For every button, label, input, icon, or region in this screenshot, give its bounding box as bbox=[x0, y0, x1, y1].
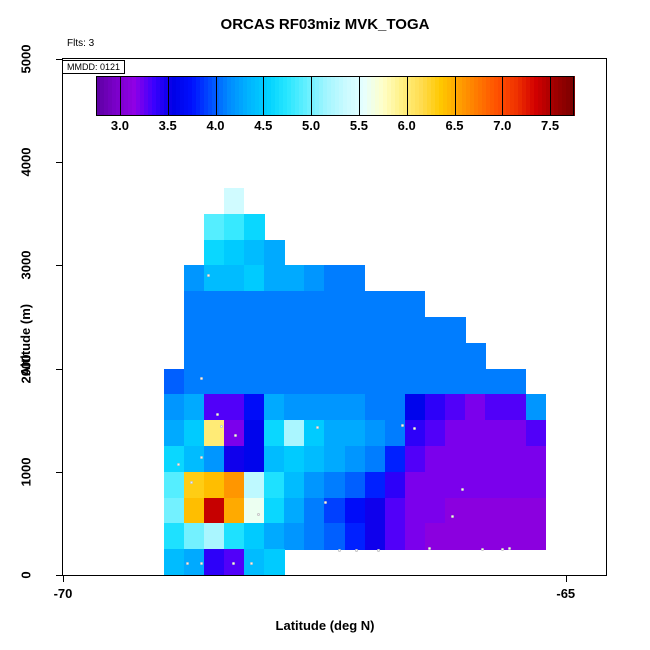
scatter-point bbox=[250, 562, 253, 565]
scatter-point bbox=[413, 427, 416, 430]
scatter-point bbox=[461, 488, 464, 491]
colorbar-tick-mark bbox=[216, 77, 217, 115]
scatter-point bbox=[501, 548, 504, 551]
y-tick-label: 5000 bbox=[19, 45, 34, 74]
chart-root: ORCAS RF03miz MVK_TOGA Flts: 3 MMDD: 012… bbox=[0, 0, 650, 650]
scatter-point bbox=[428, 547, 431, 550]
scatter-point bbox=[232, 562, 235, 565]
scatter-point bbox=[316, 426, 319, 429]
mmdd-badge: MMDD: 0121 bbox=[62, 60, 125, 74]
y-tick-label: 3000 bbox=[19, 251, 34, 280]
colorbar-tick-mark bbox=[168, 77, 169, 115]
colorbar-tick-label: 5.0 bbox=[302, 118, 320, 133]
colorbar-tick-label: 6.0 bbox=[398, 118, 416, 133]
colorbar-tick-label: 3.0 bbox=[111, 118, 129, 133]
scatter-point bbox=[257, 513, 260, 516]
colorbar-tick-label: 4.0 bbox=[206, 118, 224, 133]
scatter-point bbox=[377, 549, 380, 552]
colorbar-tick-mark bbox=[407, 77, 408, 115]
colorbar-tick-mark bbox=[502, 77, 503, 115]
colorbar-tick-mark bbox=[120, 77, 121, 115]
colorbar-tick-label: 5.5 bbox=[350, 118, 368, 133]
y-tick-mark bbox=[56, 575, 63, 576]
scatter-point bbox=[200, 562, 203, 565]
colorbar-swatch bbox=[570, 76, 575, 116]
colorbar-tick-label: 4.5 bbox=[254, 118, 272, 133]
colorbar-tick-mark bbox=[550, 77, 551, 115]
scatter-point bbox=[220, 425, 223, 428]
x-tick-label: -70 bbox=[54, 586, 73, 601]
colorbar-tick-mark bbox=[263, 77, 264, 115]
y-tick-mark bbox=[56, 162, 63, 163]
scatter-point bbox=[401, 424, 404, 427]
scatter-point bbox=[190, 481, 193, 484]
y-tick-mark bbox=[56, 265, 63, 266]
scatter-point bbox=[338, 549, 341, 552]
colorbar-tick-label: 3.5 bbox=[159, 118, 177, 133]
scatter-point bbox=[234, 434, 237, 437]
y-tick-label: 4000 bbox=[19, 148, 34, 177]
scatter-point bbox=[177, 463, 180, 466]
colorbar-tick-label: 7.5 bbox=[541, 118, 559, 133]
colorbar-tick-label: 6.5 bbox=[445, 118, 463, 133]
x-tick-label: -65 bbox=[556, 586, 575, 601]
y-tick-mark bbox=[56, 59, 63, 60]
colorbar-tick-label: 7.0 bbox=[493, 118, 511, 133]
scatter-point bbox=[451, 515, 454, 518]
y-tick-mark bbox=[56, 369, 63, 370]
colorbar-tick-mark bbox=[359, 77, 360, 115]
y-tick-mark bbox=[56, 472, 63, 473]
colorbar-tick-mark bbox=[311, 77, 312, 115]
scatter-point bbox=[508, 547, 511, 550]
x-tick-mark bbox=[566, 575, 567, 582]
colorbar-tick-mark bbox=[455, 77, 456, 115]
scatter-point bbox=[186, 562, 189, 565]
scatter-point bbox=[481, 548, 484, 551]
x-axis-label: Latitude (deg N) bbox=[0, 618, 650, 633]
scatter-point bbox=[200, 456, 203, 459]
scatter-point bbox=[207, 274, 210, 277]
y-tick-label: 1000 bbox=[19, 457, 34, 486]
scatter-point bbox=[216, 413, 219, 416]
scatter-point bbox=[355, 549, 358, 552]
scatter-point bbox=[324, 501, 327, 504]
y-tick-label: 0 bbox=[19, 571, 34, 578]
scatter-point bbox=[200, 377, 203, 380]
x-tick-mark bbox=[63, 575, 64, 582]
y-axis-label: Altitude (m) bbox=[18, 304, 33, 376]
